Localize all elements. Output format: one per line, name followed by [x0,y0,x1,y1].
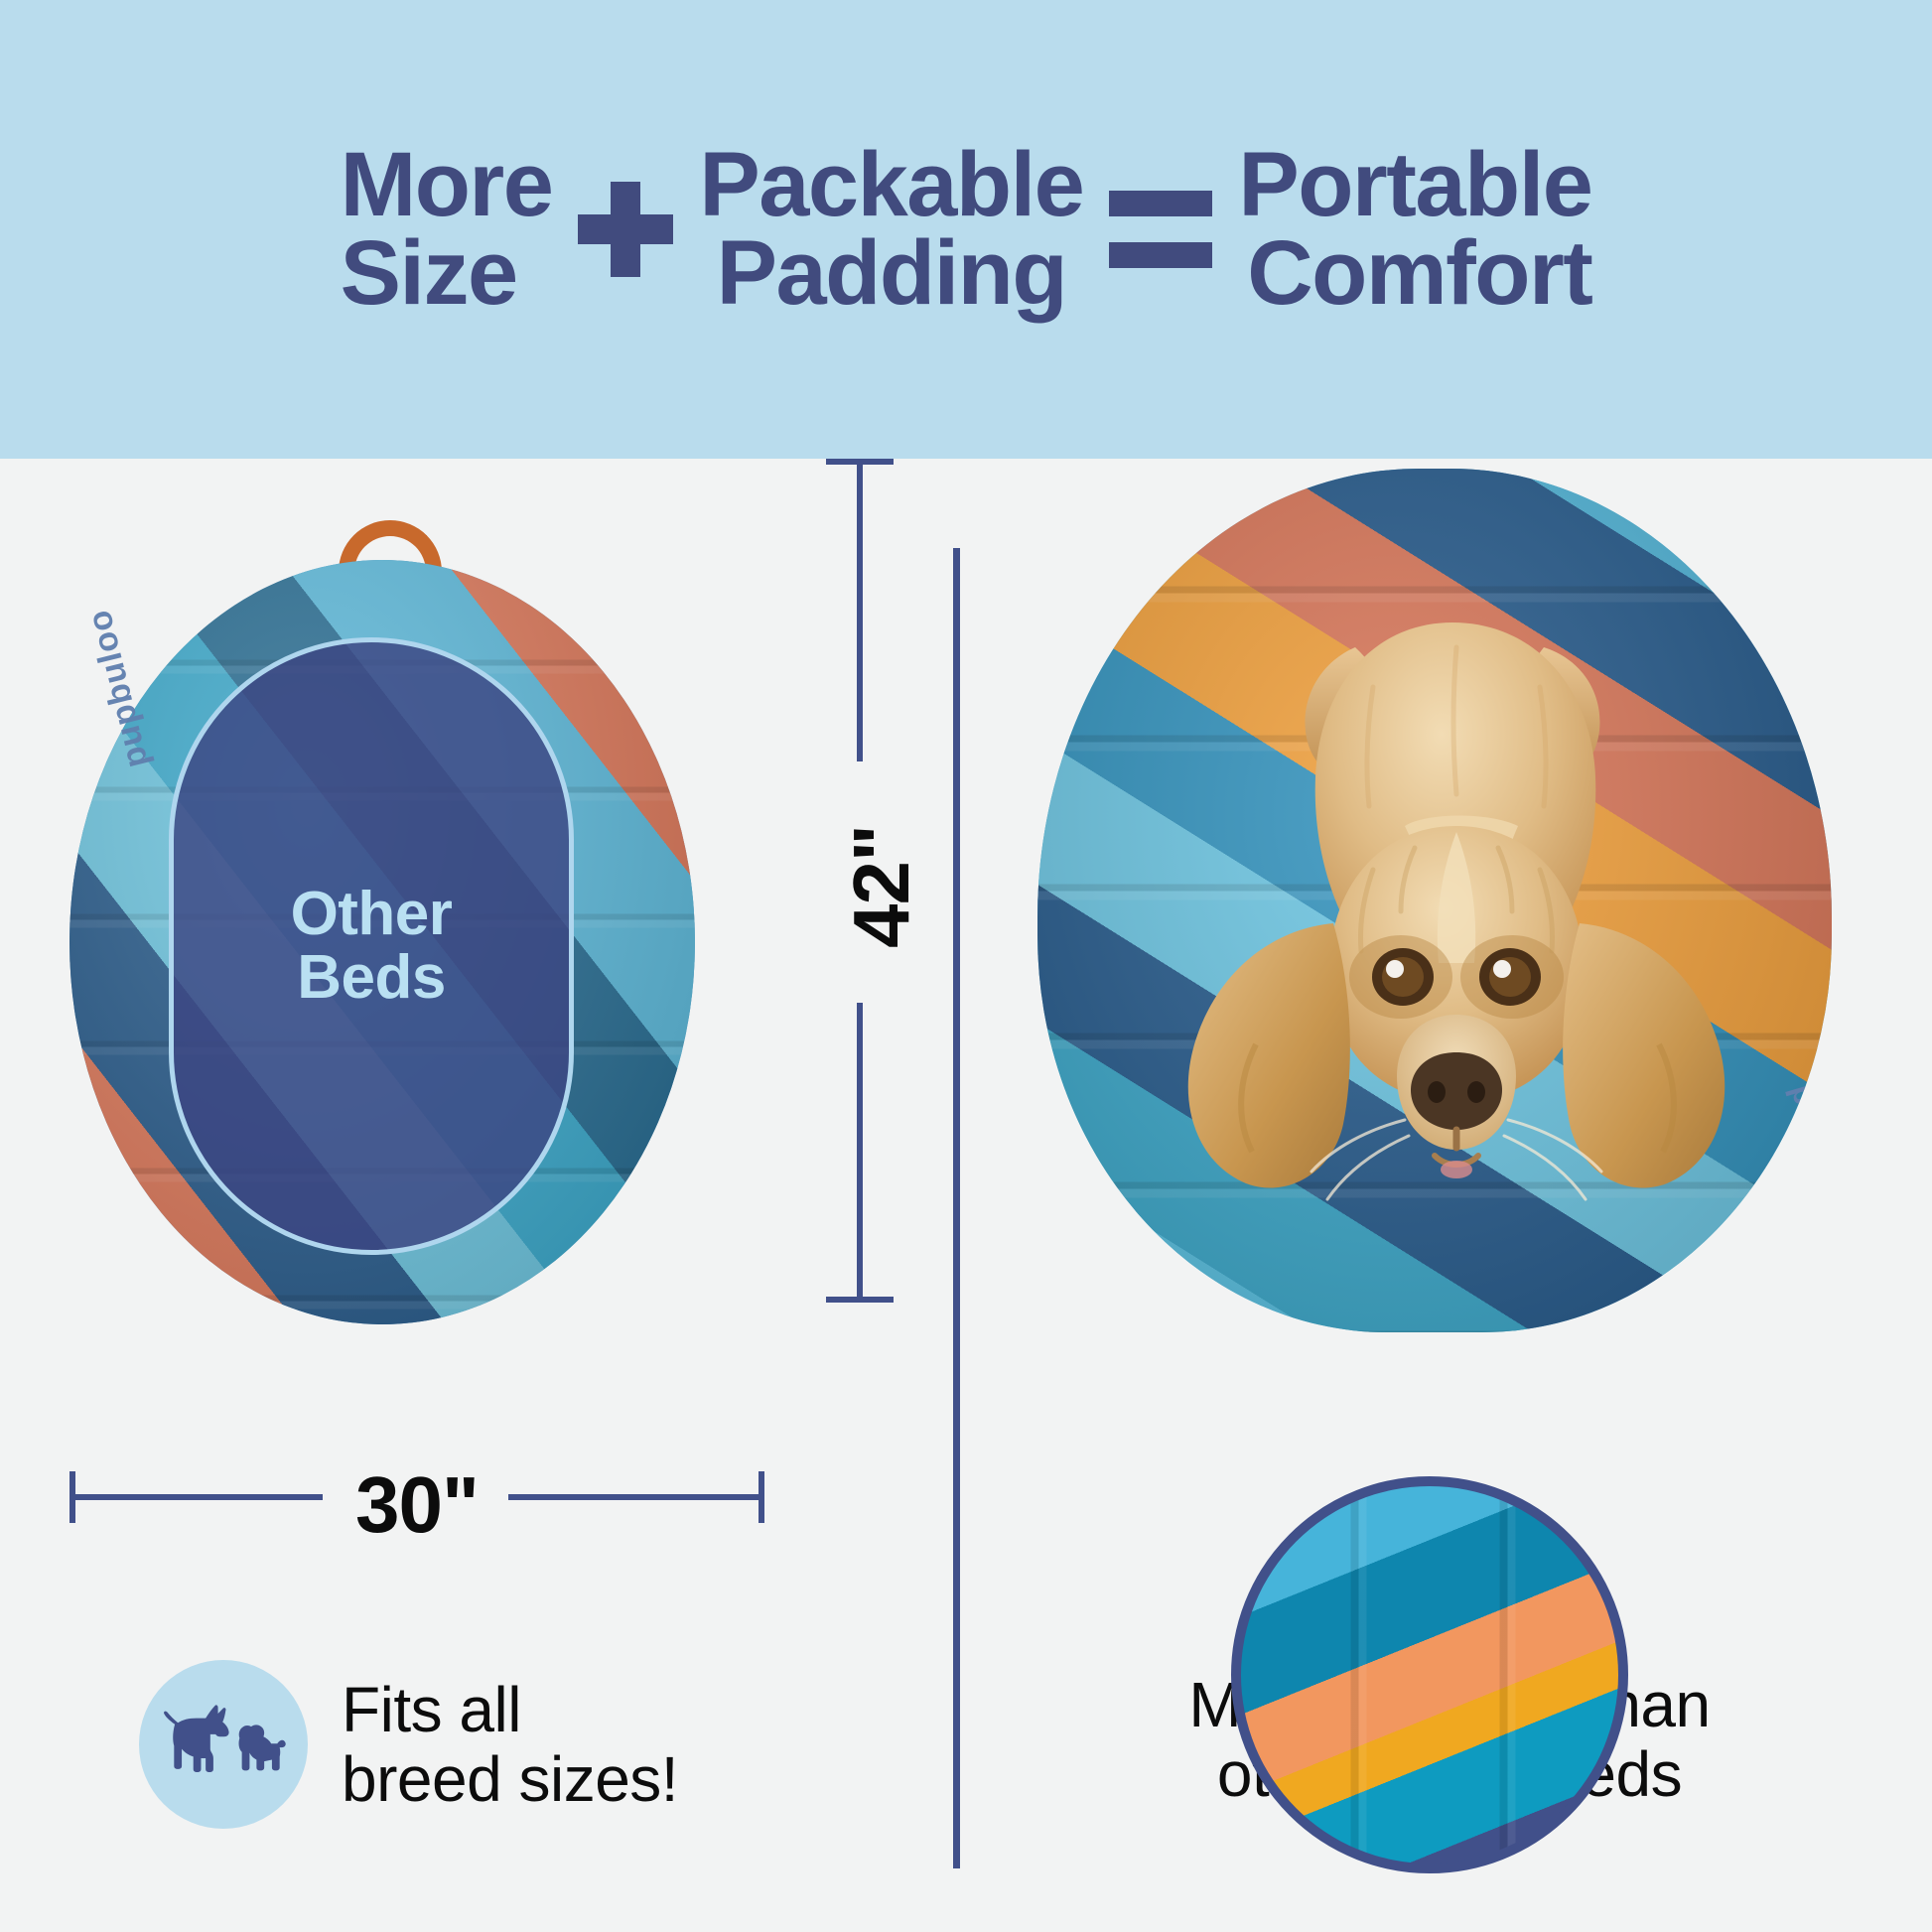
width-line-left [72,1494,323,1500]
other-beds-overlay: Other Beds [169,637,574,1255]
other-beds-line2: Beds [291,946,453,1010]
equation-term-packable-padding: Packable Padding [699,141,1083,318]
width-dimension: 30" [69,1461,764,1551]
height-line-lower [857,1003,863,1301]
term1-line1: More [341,141,553,229]
height-line-upper [857,462,863,761]
padding-closeup-inset [1231,1476,1628,1873]
width-line-right [508,1494,759,1500]
panel-divider [953,548,960,1868]
term1-line2: Size [341,229,553,318]
height-value-wrap: 42" [802,774,961,999]
fits-line1: Fits all [342,1675,678,1744]
other-beds-label: Other Beds [291,883,453,1011]
infographic-page: More Size Packable Padding Portable Comf… [0,0,1932,1932]
value-equation: More Size Packable Padding Portable Comf… [0,141,1932,318]
term2-line1: Packable [699,141,1083,229]
fits-all-breeds-text: Fits all breed sizes! [342,1675,678,1815]
equation-term-more-size: More Size [341,141,553,318]
fits-all-breeds-callout: Fits all breed sizes! [139,1645,894,1844]
dog-on-bed-photo: pupbuloo [1037,469,1832,1342]
plus-icon [578,182,673,277]
other-beds-illustration: pupbuloo Other Beds [69,520,695,1324]
cocker-spaniel-illustration [1107,528,1802,1312]
term3-line2: Comfort [1238,229,1591,318]
term2-line2: Padding [699,229,1083,318]
comparison-body: pupbuloo Other Beds 42" 30" [0,459,1932,1932]
equals-icon [1109,191,1212,268]
header-banner: More Size Packable Padding Portable Comf… [0,0,1932,459]
fits-line2: breed sizes! [342,1744,678,1814]
two-dogs-icon [139,1660,308,1829]
inset-quilt-seams [1241,1486,1618,1863]
width-value-wrap: 30" [318,1448,516,1563]
height-dimension: 42" [804,459,943,1303]
equation-term-portable-comfort: Portable Comfort [1238,141,1591,318]
height-value: 42" [836,825,927,948]
term3-line1: Portable [1238,141,1591,229]
height-cap-bottom [826,1297,894,1303]
width-cap-right [759,1471,764,1523]
other-beds-line1: Other [291,883,453,946]
width-value: 30" [355,1459,479,1551]
